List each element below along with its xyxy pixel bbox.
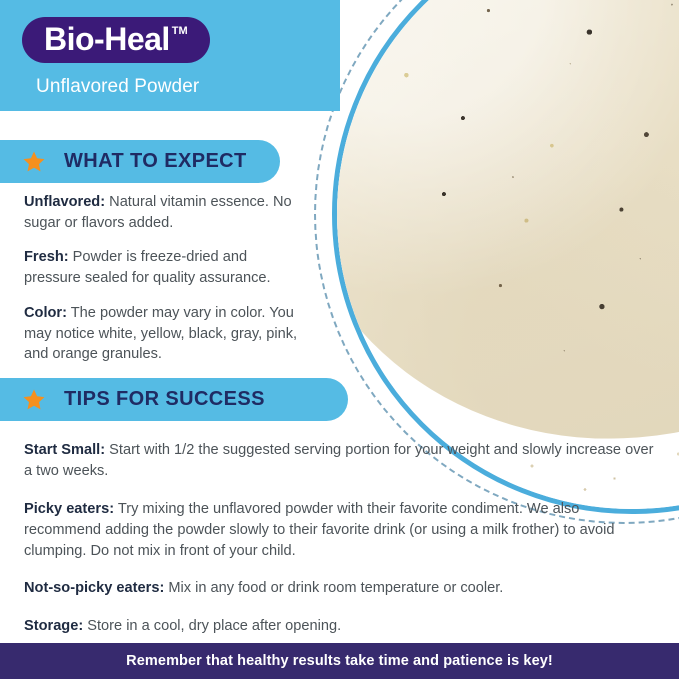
section-header-what-to-expect: WHAT TO EXPECT — [0, 140, 280, 183]
paragraph-label: Storage: — [24, 618, 83, 634]
brand-name: Bio-Heal — [44, 23, 170, 55]
info-paragraph: Picky eaters: Try mixing the unflavored … — [24, 499, 654, 563]
paragraph-text: Store in a cool, dry place after opening… — [83, 618, 341, 634]
footer-message: Remember that healthy results take time … — [126, 653, 553, 669]
paragraph-label: Unflavored: — [24, 194, 105, 210]
info-paragraph: Color: The powder may vary in color. You… — [24, 303, 306, 365]
paragraph-label: Picky eaters: — [24, 501, 114, 517]
footer-banner: Remember that healthy results take time … — [0, 643, 679, 679]
section-header-tips-for-success: TIPS FOR SUCCESS — [0, 378, 348, 421]
info-paragraph: Unflavored: Natural vitamin essence. No … — [24, 192, 306, 233]
brand-logo: Bio-Heal TM — [22, 17, 210, 63]
star-icon — [22, 388, 46, 412]
paragraph-text: Mix in any food or drink room temperatur… — [164, 580, 503, 596]
paragraph-label: Start Small: — [24, 442, 105, 458]
info-paragraph: Storage: Store in a cool, dry place afte… — [24, 616, 654, 637]
product-info-card: Bio-Heal TM Unflavored Powder WHAT TO EX… — [0, 0, 679, 679]
section-title: TIPS FOR SUCCESS — [64, 388, 265, 411]
paragraph-text: Start with 1/2 the suggested serving por… — [24, 442, 653, 479]
what-to-expect-content: Unflavored: Natural vitamin essence. No … — [24, 192, 306, 365]
paragraph-label: Not-so-picky eaters: — [24, 580, 164, 596]
paragraph-label: Fresh: — [24, 249, 69, 265]
product-subtitle: Unflavored Powder — [36, 76, 199, 98]
brand-header: Bio-Heal TM Unflavored Powder — [0, 0, 340, 111]
info-paragraph: Fresh: Powder is freeze-dried and pressu… — [24, 247, 306, 288]
trademark-symbol: TM — [172, 25, 188, 37]
powder-pile — [337, 0, 679, 438]
tips-for-success-content: Start Small: Start with 1/2 the suggeste… — [24, 440, 654, 653]
star-icon — [22, 150, 46, 174]
info-paragraph: Start Small: Start with 1/2 the suggeste… — [24, 440, 654, 483]
section-title: WHAT TO EXPECT — [64, 150, 247, 173]
info-paragraph: Not-so-picky eaters: Mix in any food or … — [24, 578, 654, 599]
paragraph-label: Color: — [24, 305, 67, 321]
powder-photo — [337, 0, 679, 509]
